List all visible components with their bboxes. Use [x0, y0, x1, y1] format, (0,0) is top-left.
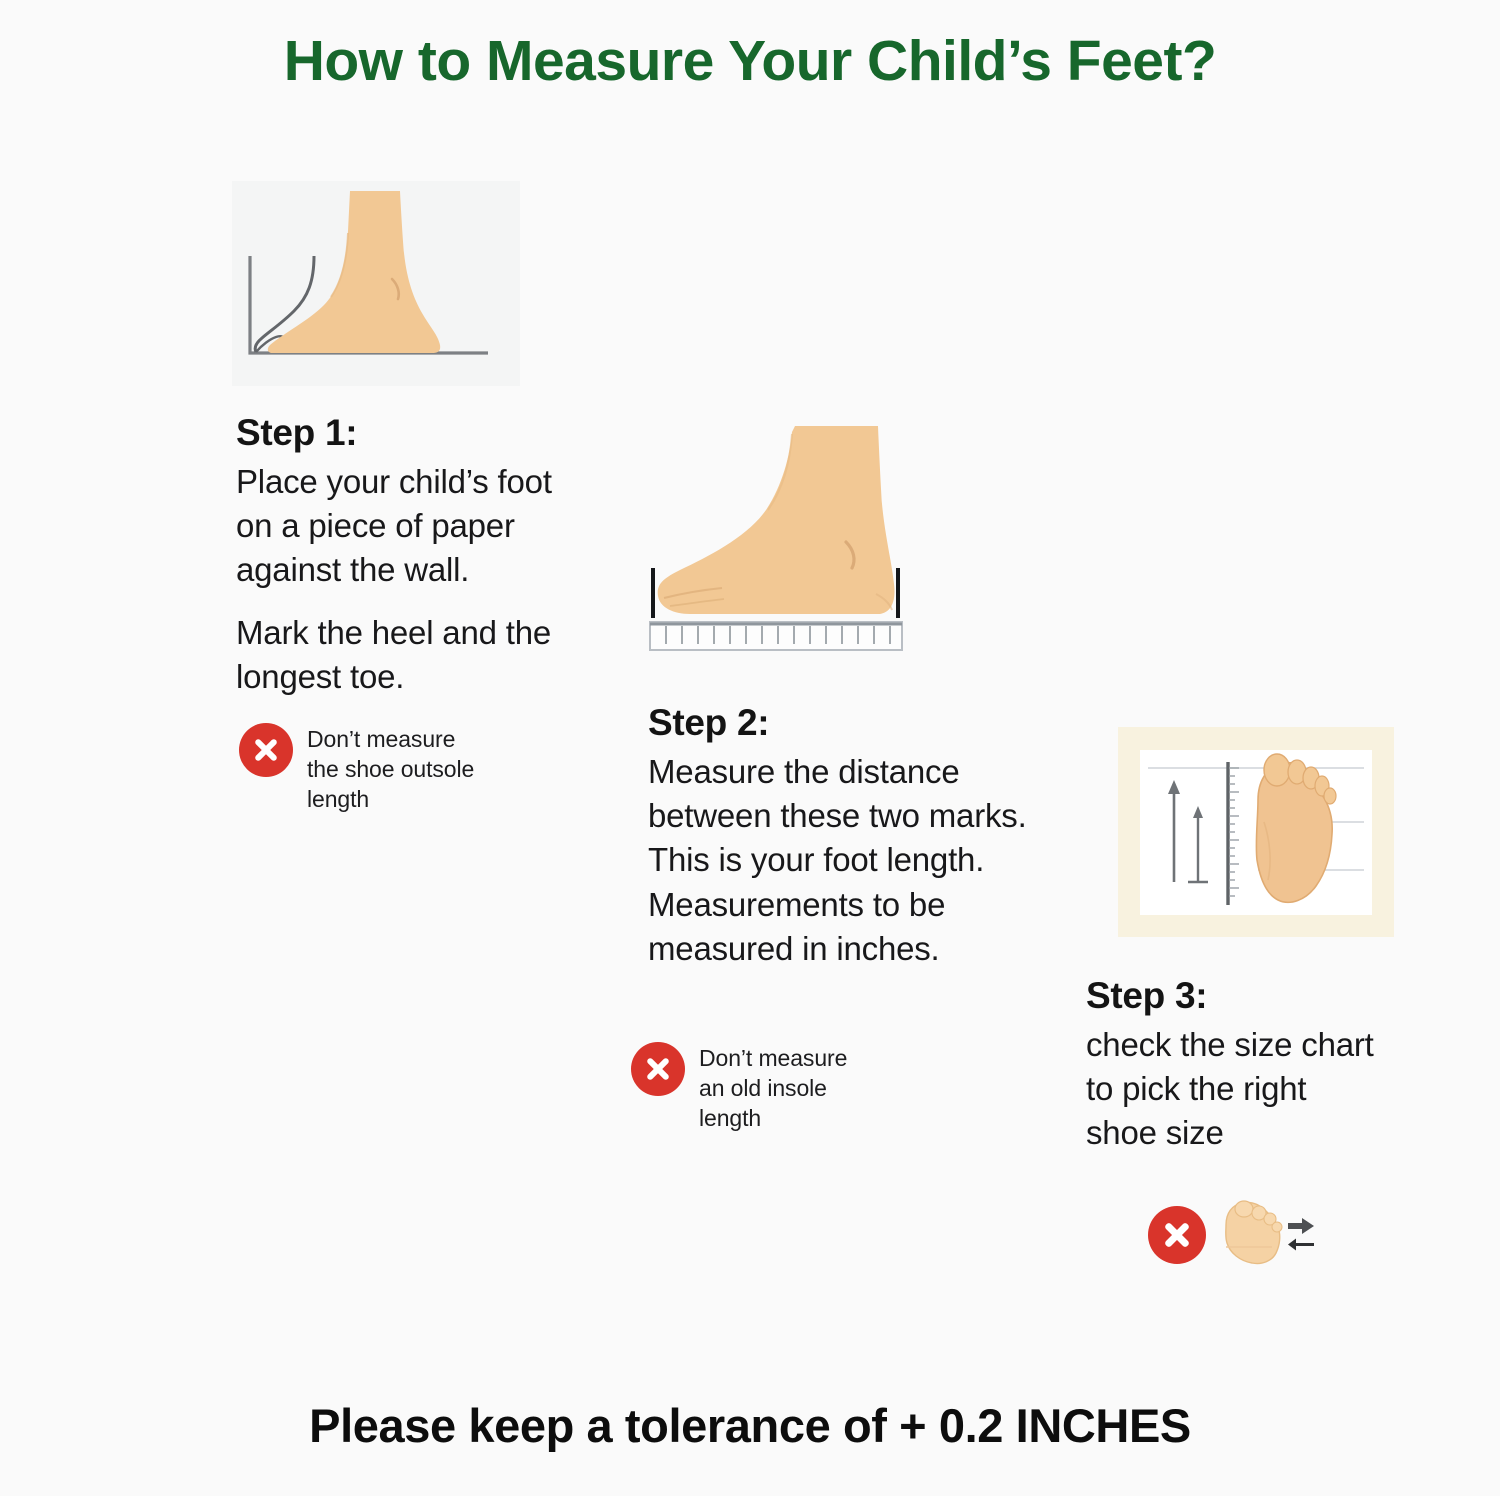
height-arrow-tall [1168, 780, 1180, 882]
step-3-text-block: Step 3: check the size chart to pick the… [1086, 975, 1426, 1156]
tolerance-note: Please keep a tolerance of + 0.2 INCHES [0, 1398, 1500, 1453]
step-2-heading: Step 2: [648, 702, 1078, 744]
step-3-paragraph-1: check the size chart to pick the right s… [1086, 1023, 1426, 1156]
step-3-heading: Step 3: [1086, 975, 1426, 1017]
foot-side-view-with-ruler-graphic [640, 418, 940, 663]
arrow-left [1288, 1239, 1314, 1251]
foot-sole-squeeze-arrows-icon [1216, 1199, 1320, 1271]
step-2-warning: Don’t measure an old insole length [631, 1042, 931, 1134]
step-1-illustration [232, 181, 520, 386]
red-circle-x-icon [239, 723, 293, 777]
step-3-illustration [1118, 727, 1394, 937]
step-3-card-inner [1140, 750, 1372, 915]
step-1-warning: Don’t measure the shoe outsole length [239, 723, 539, 815]
foot-sole-shape [1256, 754, 1336, 902]
step-1-paragraph-1: Place your child’s foot on a piece of pa… [236, 460, 566, 593]
arrow-right [1288, 1218, 1314, 1234]
step-1-warning-text: Don’t measure the shoe outsole length [307, 723, 474, 815]
step-2-paragraph-1: Measure the distance between these two m… [648, 750, 1078, 971]
step-1-heading: Step 1: [236, 412, 566, 454]
foot-side-view-against-wall-graphic [232, 181, 520, 386]
step-3-warning [1148, 1199, 1320, 1271]
infographic-page: How to Measure Your Child’s Feet? Step 1… [0, 0, 1500, 1496]
step-1-text-block: Step 1: Place your child’s foot on a pie… [236, 412, 566, 699]
measuring-scale-ticks [1229, 768, 1239, 896]
foot-sole-with-measuring-scale-graphic [1140, 750, 1372, 915]
step-1-paragraph-2: Mark the heel and the longest toe. [236, 611, 566, 699]
red-circle-x-icon [631, 1042, 685, 1096]
height-arrow-short [1188, 806, 1208, 882]
step-2-warning-text: Don’t measure an old insole length [699, 1042, 847, 1134]
step-2-illustration [640, 418, 940, 663]
red-circle-x-icon [1148, 1206, 1206, 1264]
page-title: How to Measure Your Child’s Feet? [0, 28, 1500, 94]
step-2-text-block: Step 2: Measure the distance between the… [648, 702, 1078, 971]
